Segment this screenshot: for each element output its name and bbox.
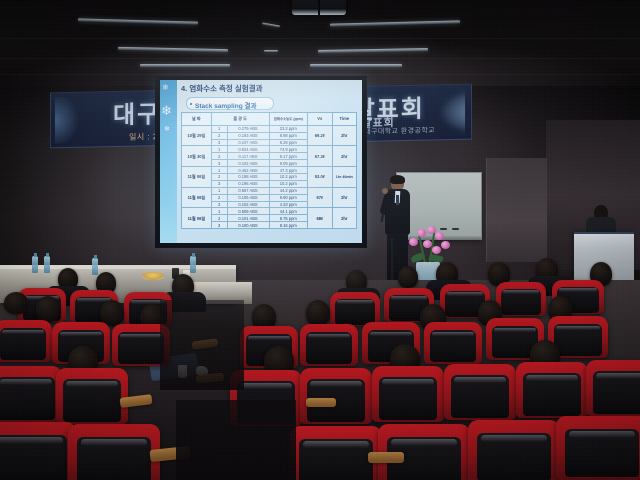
seat-highlight	[559, 288, 596, 291]
cell-index: 3	[211, 160, 227, 167]
snack-plate	[142, 272, 164, 280]
cell-concentration: 74.9 ppm	[269, 146, 308, 153]
table-body: 10월 29일 1 0.279 ABS 23.2 ppm 69.2ℓ 2hr 2…	[182, 125, 357, 228]
seat-highlight	[240, 383, 292, 389]
col-header-concentration: 염화수소농도 (ppm)	[269, 113, 308, 126]
seat-highlight	[503, 290, 539, 293]
cell-index: 1	[211, 208, 227, 215]
ceiling-light	[264, 50, 278, 52]
seat-highlight	[337, 300, 373, 303]
auditorium-seat	[0, 320, 52, 362]
cell-vs: 67ℓ	[308, 187, 333, 208]
cell-date: 10월 30일	[182, 146, 212, 167]
audience-head	[306, 300, 330, 326]
cell-absorbance: 0.198 ABS	[227, 174, 269, 181]
seat-highlight	[310, 381, 362, 387]
cell-absorbance: 0.107 ABS	[227, 139, 269, 146]
auditorium-seat	[300, 324, 358, 366]
cell-absorbance: 0.100 ABS	[227, 222, 269, 229]
cell-time: 2hr	[332, 208, 357, 229]
cell-concentration: 10.2 ppm	[269, 174, 308, 181]
cell-absorbance: 0.509 ABS	[227, 208, 269, 215]
slide-title: 4. 염화수소 측정 실험결과	[181, 83, 263, 94]
cell-index: 2	[211, 194, 227, 201]
seat-highlight	[556, 326, 599, 330]
table-row: 10월 29일 1 0.279 ABS 23.2 ppm 69.2ℓ 2hr	[182, 125, 357, 132]
auditorium-seat	[444, 364, 516, 420]
ceiling-light	[310, 64, 402, 67]
cell-absorbance: 0.567 ABS	[227, 187, 269, 194]
auditorium-seat	[496, 282, 546, 316]
audience-head	[4, 292, 28, 314]
cell-index: 3	[211, 201, 227, 208]
cell-concentration: 8.98 ppm	[269, 132, 308, 139]
ceiling-seam	[0, 38, 640, 39]
seat-highlight	[248, 336, 290, 340]
auditorium-seat	[586, 360, 640, 416]
seat-highlight	[370, 332, 412, 336]
cell-vs: 67.3ℓ	[308, 146, 333, 167]
cell-absorbance: 0.196 ABS	[227, 180, 269, 187]
table-header-row: 날 짜 흡 광 도 염화수소농도 (ppm) Vs Time	[182, 113, 357, 126]
slide-sidebar-decoration: ❄ ❄ ❄	[160, 80, 177, 243]
cell-index: 2	[211, 215, 227, 222]
auditorium-seat	[330, 292, 380, 326]
auditorium-seat	[0, 422, 76, 480]
cell-date: 10월 29일	[182, 125, 212, 146]
seat-highlight	[447, 292, 483, 295]
slide-bullet-box: Stack sampling 결과	[186, 97, 274, 110]
orchid-bloom	[417, 229, 426, 237]
cell-absorbance: 0.102 ABS	[227, 160, 269, 167]
cell-vs: 53.0ℓ	[308, 167, 333, 188]
table-row: 11월 06일 1 0.462 ABS 47.3 ppm 53.0ℓ 1hr 4…	[182, 167, 357, 174]
col-header-date: 날 짜	[182, 113, 212, 126]
cell-concentration: 9.17 ppm	[269, 153, 308, 160]
projected-slide: ❄ ❄ ❄ 4. 염화수소 측정 실험결과 Stack sampling 결과 …	[160, 80, 362, 243]
slide-bullet-label: Stack sampling 결과	[195, 100, 256, 110]
presenter-leg-divider	[391, 238, 393, 282]
cell-concentration: 9.90 ppm	[269, 194, 308, 201]
cell-index: 1	[211, 125, 227, 132]
cell-time: 2hr	[332, 125, 357, 146]
col-header-time: Time	[332, 113, 357, 126]
cell-concentration: 8.16 ppm	[269, 222, 308, 229]
cell-concentration: 44.1 ppm	[269, 208, 308, 215]
water-bottle	[92, 258, 98, 275]
seat-highlight	[382, 379, 434, 385]
cell-concentration: 9.09 ppm	[269, 160, 308, 167]
audience-head	[36, 296, 60, 322]
slide-data-table: 날 짜 흡 광 도 염화수소농도 (ppm) Vs Time 10월 29일 1…	[181, 112, 357, 229]
cell-date: 11월 06일	[182, 167, 212, 188]
auditorium-seat	[372, 366, 444, 422]
audience-head	[398, 266, 418, 288]
projection-screen: ❄ ❄ ❄ 4. 염화수소 측정 실험결과 Stack sampling 결과 …	[155, 76, 367, 248]
cell-absorbance: 0.102 ABS	[227, 201, 269, 208]
col-header-vs: Vs	[308, 113, 333, 126]
projector-lens-divider	[318, 0, 320, 15]
cell-time: 2hr	[332, 187, 357, 208]
cell-index: 3	[211, 139, 227, 146]
cell-concentration: 44.2 ppm	[269, 187, 308, 194]
aisle-shadow	[160, 300, 244, 390]
water-bottle	[32, 256, 38, 273]
cell-concentration: 10.2 ppm	[269, 180, 308, 187]
cell-absorbance: 0.106 ABS	[227, 194, 269, 201]
orchid-bloom	[441, 241, 450, 249]
cell-index: 1	[211, 187, 227, 194]
cell-index: 2	[211, 153, 227, 160]
cell-index: 1	[211, 146, 227, 153]
cell-concentration: 47.3 ppm	[269, 167, 308, 174]
col-header-absorbance: 흡 광 도	[211, 113, 269, 126]
cell-vs: 68ℓ	[308, 208, 333, 229]
snowflake-icon: ❄	[161, 104, 172, 117]
seat-highlight	[454, 377, 506, 383]
orchid-bloom	[409, 238, 418, 246]
cell-absorbance: 0.462 ABS	[227, 167, 269, 174]
ceiling-seam	[0, 58, 640, 59]
seat-highlight	[391, 296, 427, 299]
cell-absorbance: 0.101 ABS	[227, 215, 269, 222]
seat-highlight	[60, 332, 102, 336]
aisle-shadow	[176, 400, 296, 480]
presenter-hand	[382, 188, 388, 194]
orchid-bloom	[427, 226, 436, 234]
auditorium-seat	[0, 366, 62, 422]
presenter-hair	[390, 175, 405, 184]
presenter-tie	[396, 195, 399, 205]
cell-index: 1	[211, 167, 227, 174]
ceiling-seam	[0, 74, 640, 75]
seat-highlight	[391, 439, 457, 445]
cell-concentration: 8.75 ppm	[269, 215, 308, 222]
seat-highlight	[481, 435, 547, 441]
banner-swoosh-left	[55, 96, 101, 143]
cell-absorbance: 0.279 ABS	[227, 125, 269, 132]
seat-highlight	[596, 373, 640, 379]
cell-concentration: 23.2 ppm	[269, 125, 308, 132]
seat-highlight	[432, 332, 474, 336]
cell-date: 11월 06일	[182, 187, 212, 208]
water-bottle	[44, 256, 50, 273]
snowflake-icon: ❄	[164, 126, 170, 133]
cell-absorbance: 0.934 ABS	[227, 146, 269, 153]
cell-index: 3	[211, 222, 227, 229]
orchid-bloom	[423, 240, 432, 248]
cell-absorbance: 0.117 ABS	[227, 153, 269, 160]
seat-highlight	[308, 334, 350, 338]
auditorium-seat	[556, 416, 640, 480]
auditorium-photo: 대구대 발표회 대구 발표회 일시 : 2009. 11. 20. 대구대학교 …	[0, 0, 640, 480]
auditorium-seat	[516, 362, 588, 418]
seat-highlight	[120, 334, 162, 338]
auditorium-seat	[468, 420, 560, 480]
cell-concentration: 8.28 ppm	[269, 139, 308, 146]
seat-highlight	[0, 379, 52, 385]
seat-highlight	[526, 375, 578, 381]
auditorium-seat	[424, 322, 482, 364]
ceiling-projector	[292, 0, 346, 15]
cell-date: 11월 06일	[182, 208, 212, 229]
table-row: 11월 06일 1 0.567 ABS 44.2 ppm 67ℓ 2hr	[182, 187, 357, 194]
cell-index: 2	[211, 174, 227, 181]
wall-door-panel	[486, 158, 547, 262]
banner-organization: 대구대학교 환경공학교	[364, 125, 435, 136]
auditorium-seat	[300, 368, 372, 424]
cell-absorbance: 0.193 ABS	[227, 132, 269, 139]
seat-highlight	[2, 330, 44, 334]
cell-concentration: 4.33 ppm	[269, 201, 308, 208]
orchid-bloom	[435, 232, 444, 240]
ceiling-light	[140, 64, 230, 67]
cell-index: 2	[211, 132, 227, 139]
seat-armrest	[368, 452, 404, 463]
cell-time: 1hr 40min	[332, 167, 357, 188]
cell-time: 2hr	[332, 146, 357, 167]
seat-highlight	[81, 439, 147, 445]
water-bottle	[190, 256, 196, 273]
seat-highlight	[303, 441, 369, 447]
snowflake-icon: ❄	[162, 84, 169, 92]
orchid-bloom	[432, 246, 441, 254]
auditorium-seat	[68, 424, 160, 480]
table-row: 10월 30일 1 0.934 ABS 74.9 ppm 67.3ℓ 2hr	[182, 146, 357, 153]
cell-index: 3	[211, 180, 227, 187]
seat-highlight	[66, 381, 118, 387]
cell-vs: 69.2ℓ	[308, 125, 333, 146]
seat-armrest	[306, 398, 336, 407]
table-row: 11월 06일 1 0.509 ABS 44.1 ppm 68ℓ 2hr	[182, 208, 357, 215]
auditorium-seat	[56, 368, 128, 424]
seat-highlight	[569, 431, 635, 437]
seat-highlight	[0, 437, 63, 443]
seat-highlight	[494, 328, 536, 332]
